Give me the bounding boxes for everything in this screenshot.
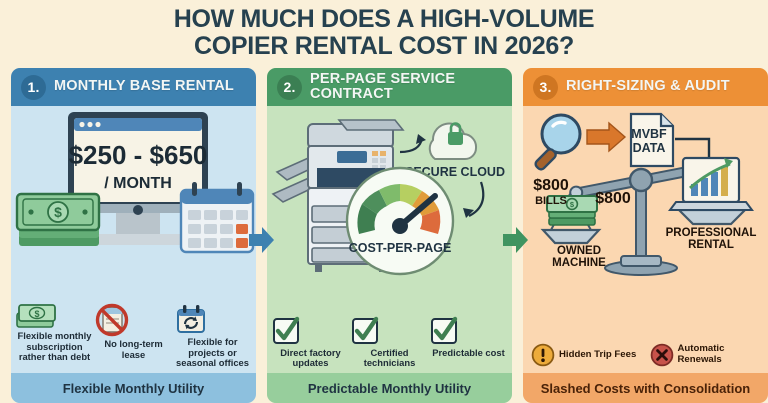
professional-rental-line-1: PROFESSIONAL xyxy=(666,227,757,239)
panel-3-bullets: Hidden Trip Fees Automatic Renewals xyxy=(531,343,762,367)
bullet-item: Hidden Trip Fees xyxy=(531,343,644,367)
panel-1-number: 1. xyxy=(21,75,46,100)
bullet-label: Predictable cost xyxy=(432,347,504,358)
panel-right-sizing-and-audit: 3. RIGHT-SIZING & AUDIT xyxy=(523,68,768,403)
panel-3-header: 3. RIGHT-SIZING & AUDIT xyxy=(523,68,768,106)
mvbf-data-line-2: DATA xyxy=(633,141,666,155)
page-title-line-2: COPIER RENTAL COST IN 2026? xyxy=(0,33,768,60)
bullet-item: No long-term lease xyxy=(94,303,173,360)
panel-1-header: 1. MONTHLY BASE RENTAL xyxy=(11,68,256,106)
svg-text:$: $ xyxy=(35,309,40,319)
bullet-label: No long-term lease xyxy=(104,338,162,360)
cross-circle-icon xyxy=(650,343,674,367)
page-title-line-1: HOW MUCH DOES A HIGH-VOLUME xyxy=(0,6,768,33)
panel-rail: 1. MONTHLY BASE RENTAL xyxy=(0,68,768,403)
panel-1-body: $ xyxy=(11,106,256,373)
bullet-label: Automatic Renewals xyxy=(678,344,763,365)
scale-left-amount: $800 xyxy=(533,177,569,194)
arrow-step-1-to-2 xyxy=(249,225,275,255)
bullet-item: Flexible for projects or seasonal office… xyxy=(173,303,252,369)
mvbf-data-line-1: MVBF xyxy=(631,127,667,141)
page-title: HOW MUCH DOES A HIGH-VOLUME COPIER RENTA… xyxy=(0,0,768,60)
bullet-label: Direct factory updates xyxy=(280,347,340,369)
panel-3-footer: Slashed Costs with Consolidation xyxy=(523,373,768,403)
no-contract-prohibited-icon xyxy=(94,303,173,337)
check-box-icon xyxy=(429,316,508,346)
bullet-item: Automatic Renewals xyxy=(650,343,763,367)
professional-rental-line-2: RENTAL xyxy=(688,239,734,251)
panel-3-illustration: MVBF DATA xyxy=(523,106,768,373)
price-range-value: $250 - $650 xyxy=(69,140,208,170)
bullet-item: Predictable cost xyxy=(429,316,508,359)
panel-2-bullets: Direct factory updates Certified technic… xyxy=(271,316,508,369)
panel-2-footer: Predictable Monthly Utility xyxy=(267,373,512,403)
panel-2-number: 2. xyxy=(277,75,302,100)
owned-machine-line-1: OWNED xyxy=(557,245,601,257)
arrow-step-2-to-3 xyxy=(503,225,529,255)
warning-exclamation-icon xyxy=(531,343,555,367)
cost-per-page-label: COST-PER-PAGE xyxy=(349,241,452,255)
svg-text:$: $ xyxy=(54,204,62,220)
panel-per-page-service-contract: 2. PER-PAGE SERVICE CONTRACT xyxy=(267,68,512,403)
panel-1-footer: Flexible Monthly Utility xyxy=(11,373,256,403)
bullet-label: Hidden Trip Fees xyxy=(559,350,636,361)
bullet-item: Certified technicians xyxy=(350,316,429,369)
bullet-label: Flexible monthly subscription rather tha… xyxy=(18,330,92,362)
bullet-item: $ Flexible monthly subscription rather t… xyxy=(15,303,94,363)
panel-2-body: SECURE CLOUD COS xyxy=(267,106,512,373)
panel-3-heading: RIGHT-SIZING & AUDIT xyxy=(566,79,730,94)
bullet-item: Direct factory updates xyxy=(271,316,350,369)
panel-3-number: 3. xyxy=(533,75,558,100)
scale-left-sub: BILLS xyxy=(535,195,567,207)
check-box-icon xyxy=(271,316,350,346)
cash-bills-icon: $ xyxy=(15,303,94,329)
panel-3-body: MVBF DATA xyxy=(523,106,768,373)
panel-monthly-base-rental: 1. MONTHLY BASE RENTAL xyxy=(11,68,256,403)
calendar-refresh-icon xyxy=(173,303,252,335)
owned-machine-line-2: MACHINE xyxy=(552,257,606,269)
price-unit-value: / MONTH xyxy=(104,175,172,192)
bullet-label: Flexible for projects or seasonal office… xyxy=(176,336,249,368)
panel-2-header: 2. PER-PAGE SERVICE CONTRACT xyxy=(267,68,512,106)
bullet-label: Certified technicians xyxy=(364,347,416,369)
check-box-icon xyxy=(350,316,429,346)
panel-1-bullets: $ Flexible monthly subscription rather t… xyxy=(15,303,252,369)
panel-1-heading: MONTHLY BASE RENTAL xyxy=(54,79,234,94)
panel-2-heading: PER-PAGE SERVICE CONTRACT xyxy=(310,72,502,102)
scale-right-amount: $800 xyxy=(595,190,631,207)
